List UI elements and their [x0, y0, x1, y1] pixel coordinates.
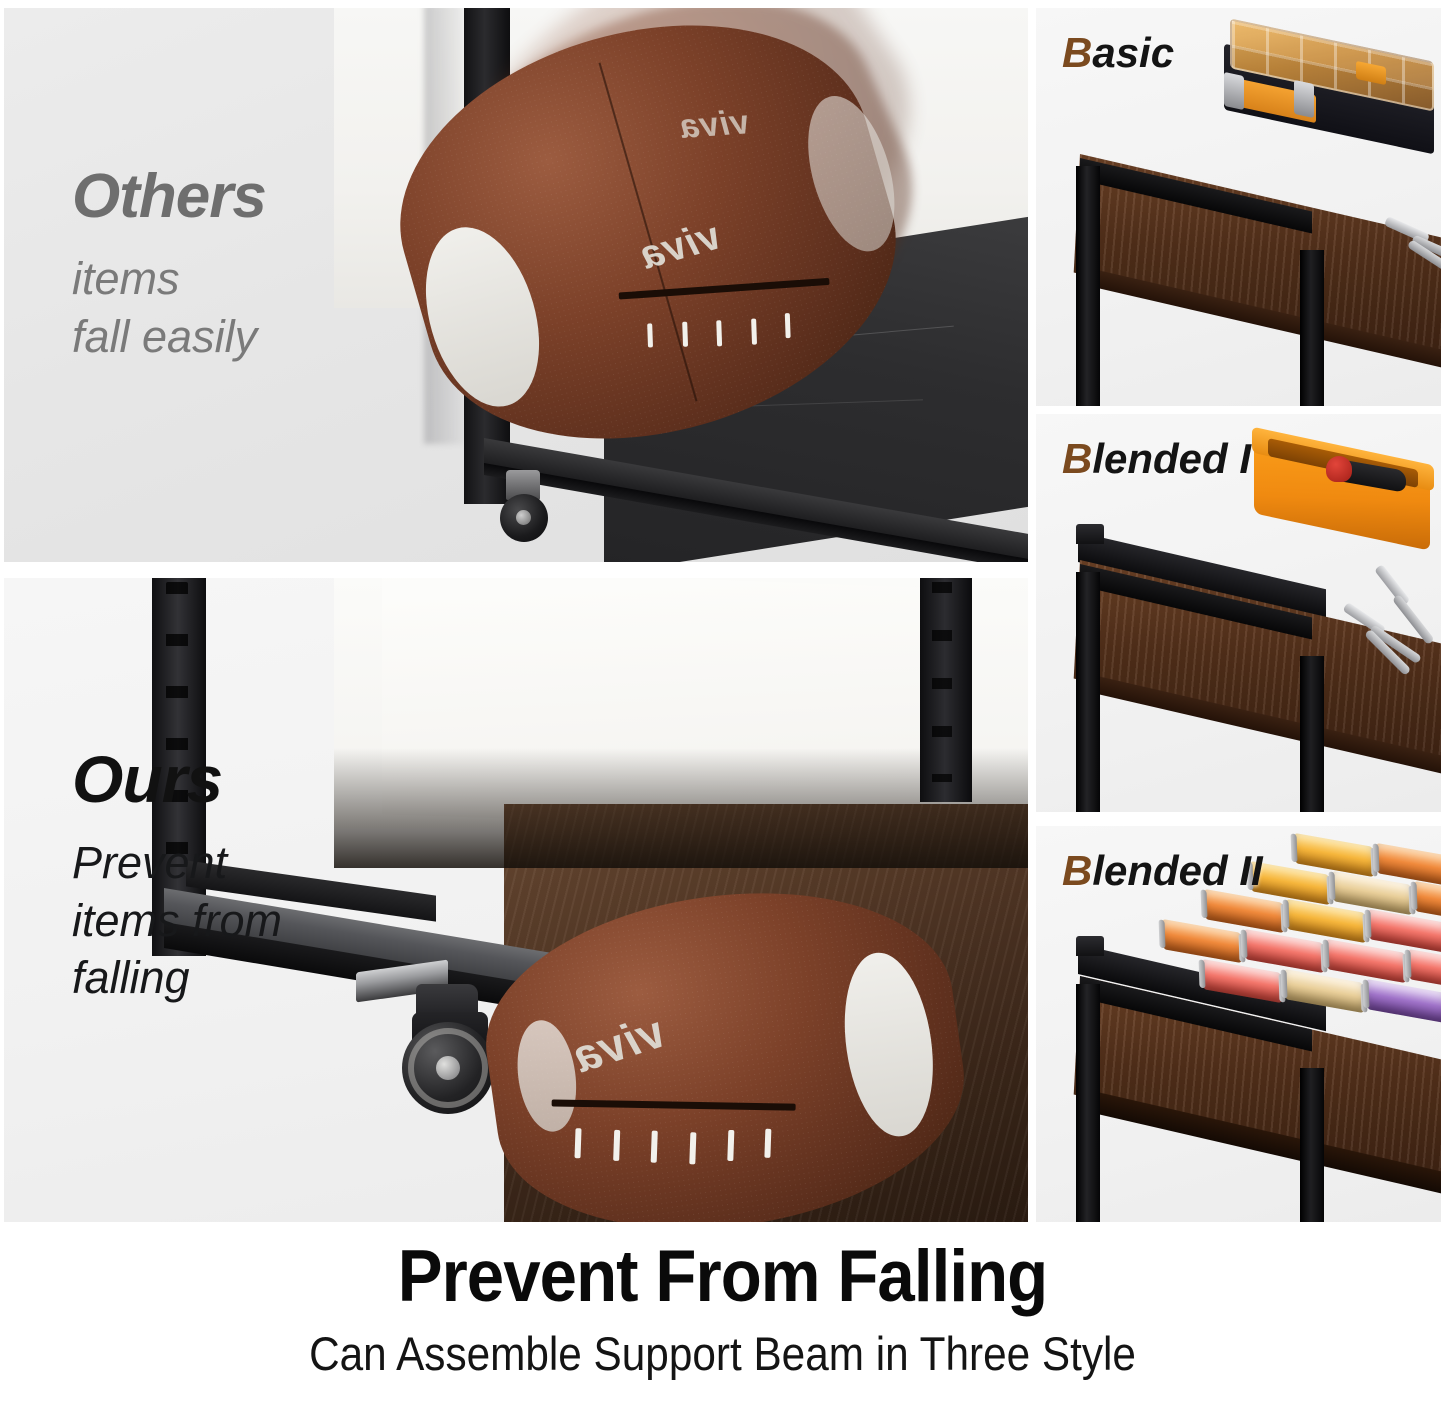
caster-wheel	[496, 470, 558, 548]
others-subtext-line-2: fall easily	[72, 308, 266, 366]
others-subtext: items fall easily	[72, 250, 266, 365]
caption-block: Prevent From Falling Can Assemble Suppor…	[0, 1240, 1445, 1377]
caption-subtitle: Can Assemble Support Beam in Three Style	[72, 1330, 1373, 1377]
support-beam-end-cap	[1076, 524, 1104, 544]
football-lace	[727, 1130, 734, 1161]
soda-can	[1242, 928, 1327, 973]
product-feature-image: viva viva Others items fall easily	[0, 0, 1445, 1425]
bench-leg-left	[1076, 166, 1100, 406]
football-lace	[751, 319, 757, 345]
others-subtext-line-1: items	[72, 250, 266, 308]
label-initial: B	[1062, 435, 1092, 482]
panel-style-blended-2: Blended II	[1036, 826, 1441, 1222]
bin-red-tool-head	[1326, 456, 1352, 482]
soda-can	[1282, 968, 1367, 1013]
shelf-upright-post-right	[920, 578, 972, 802]
organizer-latch	[1294, 80, 1314, 118]
football-lace	[689, 1132, 696, 1164]
ours-subtext-line-2: items from	[72, 892, 282, 950]
ours-subtext-line-1: Prevent	[72, 834, 282, 892]
football-lace	[784, 313, 790, 338]
football-brand-text: viva	[677, 103, 750, 147]
bench-leg-right	[1300, 250, 1324, 406]
ours-subtext: Prevent items from falling	[72, 834, 282, 1007]
panel-ours-photo: viva Basket Style Ours Prevent items fro…	[4, 578, 1028, 1222]
bench-leg-right	[1300, 656, 1324, 812]
ours-text-block: Ours Prevent items from falling	[72, 746, 282, 1007]
tool-organizer-box	[1224, 34, 1441, 140]
post-slot-holes	[932, 582, 952, 782]
bench-leg-left	[1076, 572, 1100, 812]
soda-can	[1324, 938, 1409, 983]
style-label-blended-2: Blended II	[1062, 850, 1263, 892]
label-rest: lended II	[1092, 847, 1262, 894]
orange-storage-bin	[1254, 442, 1440, 546]
ours-subtext-line-3: falling	[72, 949, 282, 1007]
soda-can	[1200, 958, 1285, 1003]
football-lace	[647, 323, 653, 347]
style-label-blended-1: Blended I	[1062, 438, 1251, 480]
football-lace	[613, 1130, 620, 1161]
others-text-block: Others items fall easily	[72, 166, 266, 365]
football-lace	[765, 1128, 772, 1157]
soda-can	[1366, 908, 1441, 953]
organizer-latch	[1224, 72, 1244, 110]
others-headline: Others	[72, 166, 266, 228]
style-label-basic: Basic	[1062, 32, 1174, 74]
football-lace	[682, 322, 688, 347]
panel-style-blended-1: Blended I	[1036, 414, 1441, 812]
label-rest: lended I	[1092, 435, 1251, 482]
bench-leg-right	[1300, 1068, 1324, 1222]
bench-leg-left	[1076, 984, 1100, 1222]
caster-hub	[516, 510, 531, 525]
soda-can	[1160, 918, 1245, 963]
caption-title: Prevent From Falling	[58, 1240, 1387, 1313]
football-retained: viva	[469, 865, 980, 1222]
label-rest: asic	[1092, 29, 1174, 76]
ours-headline: Ours	[72, 746, 282, 812]
panel-style-basic: Basic	[1036, 8, 1441, 406]
label-initial: B	[1062, 847, 1092, 894]
label-initial: B	[1062, 29, 1092, 76]
panel-others-photo: viva viva Others items fall easily	[4, 8, 1028, 562]
caster-hub	[436, 1056, 460, 1080]
support-beam-end-cap	[1076, 936, 1104, 956]
